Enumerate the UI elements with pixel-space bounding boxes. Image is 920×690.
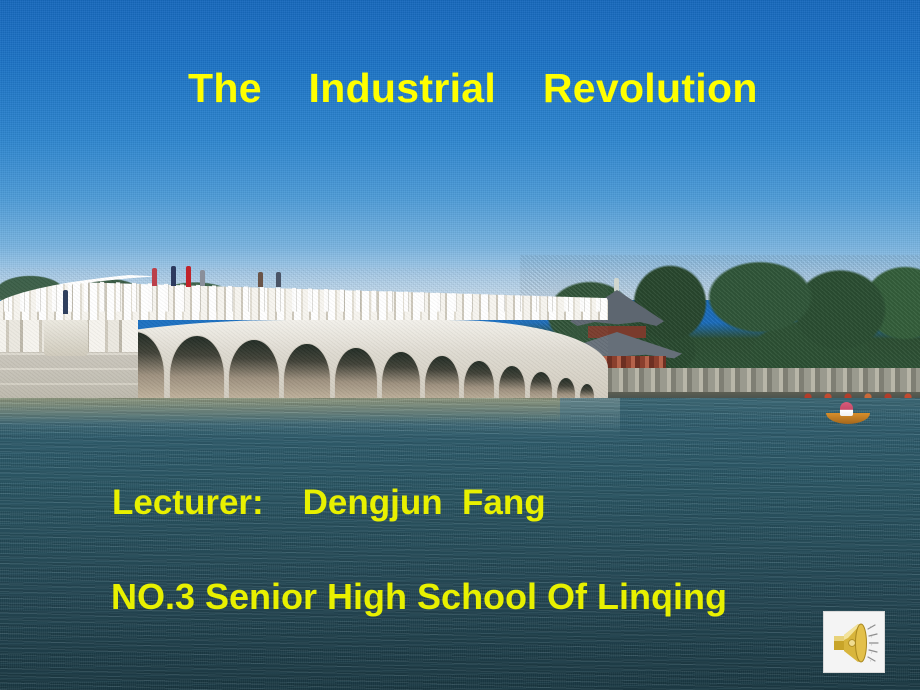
boat-passenger	[840, 402, 853, 416]
person-silhouette	[152, 268, 157, 286]
person-silhouette	[171, 266, 176, 286]
person-silhouette	[186, 266, 191, 287]
presentation-slide: The Industrial Revolution Lecturer: Deng…	[0, 0, 920, 690]
speaker-sound-icon[interactable]: › › › › ›	[824, 612, 884, 672]
pavilion-finial	[614, 278, 619, 292]
lecturer-text: Lecturer: Dengjun Fang	[112, 484, 546, 523]
water-ripples-fine	[0, 398, 920, 690]
slide-title: The Industrial Revolution	[188, 66, 758, 111]
school-name-text: NO.3 Senior High School Of Linqing	[111, 577, 727, 617]
small-boat	[826, 402, 870, 424]
person-silhouette	[200, 270, 205, 286]
person-silhouette	[258, 272, 263, 287]
person-silhouette	[276, 272, 281, 287]
person-silhouette	[63, 290, 68, 314]
speaker-sound-icon-glyph: › › › › ›	[824, 612, 884, 672]
